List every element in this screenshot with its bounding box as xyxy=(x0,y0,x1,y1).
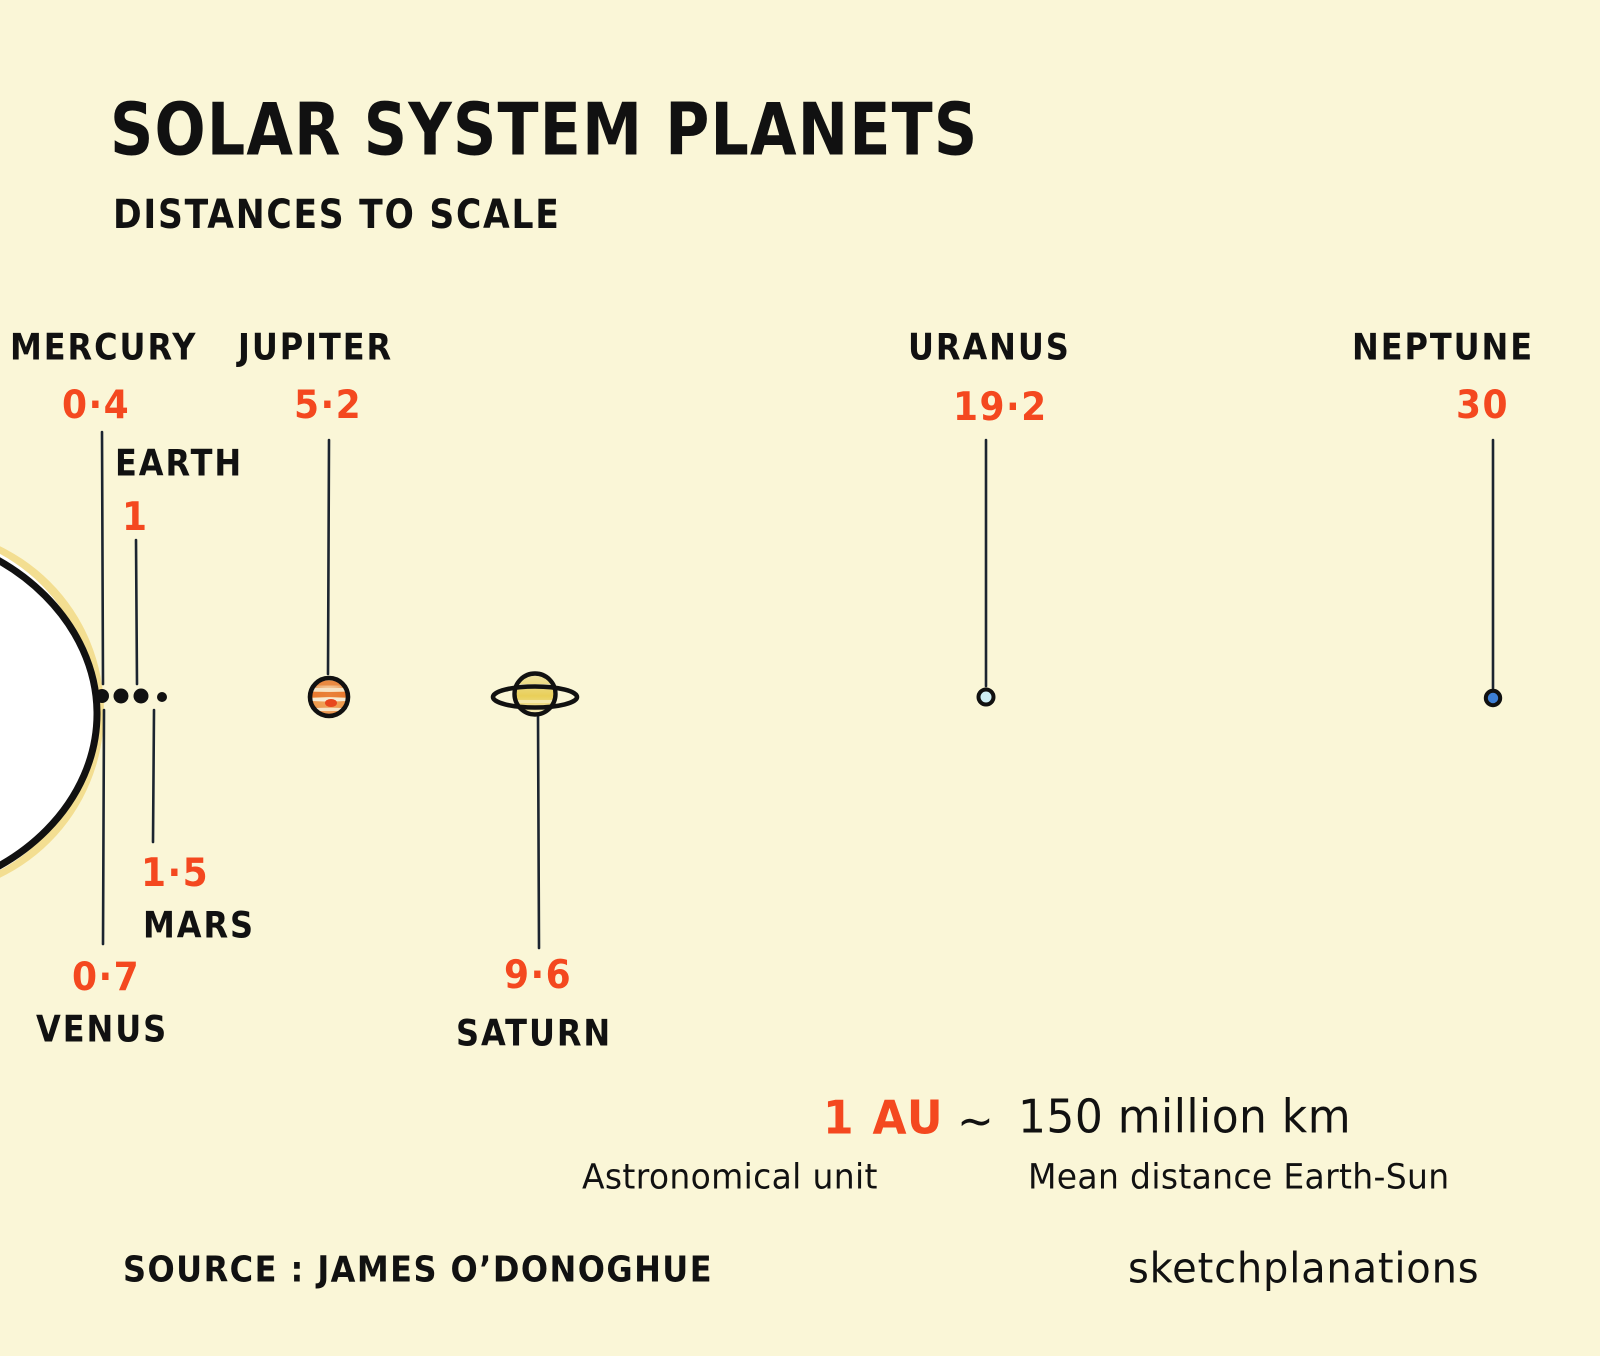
planet-label-earth: EARTH xyxy=(115,445,243,481)
saturn-planet xyxy=(493,674,577,715)
leader-mercury xyxy=(102,432,103,684)
mercury-dot xyxy=(95,689,109,703)
uranus-dot xyxy=(979,690,994,705)
planet-label-neptune: NEPTUNE xyxy=(1352,329,1534,365)
planet-value-earth: 1 xyxy=(122,499,149,538)
page-subtitle: DISTANCES TO SCALE xyxy=(113,196,561,236)
neptune-dot xyxy=(1486,691,1500,705)
leader-venus xyxy=(103,710,104,944)
planet-value-mars: 1·5 xyxy=(141,855,209,894)
earth-dot xyxy=(134,689,149,704)
venus-dot xyxy=(114,689,129,704)
leader-earth xyxy=(136,540,137,684)
planet-value-uranus: 19·2 xyxy=(953,389,1048,428)
planet-label-mars: MARS xyxy=(143,907,255,943)
planet-label-jupiter: JUPITER xyxy=(238,329,393,365)
page-title: SOLAR SYSTEM PLANETS xyxy=(110,94,978,166)
planet-value-saturn: 9·6 xyxy=(504,957,572,996)
planet-value-neptune: 30 xyxy=(1456,387,1509,426)
approx-symbol: ~ xyxy=(957,1099,994,1145)
leader-mars xyxy=(153,710,154,842)
leader-saturn xyxy=(538,716,539,948)
planet-label-uranus: URANUS xyxy=(908,329,1071,365)
mars-dot xyxy=(157,692,167,702)
jupiter-planet xyxy=(309,678,351,716)
illustration-canvas: SOLAR SYSTEM PLANETS DISTANCES TO SCALE … xyxy=(0,0,1600,1356)
planet-label-saturn: SATURN xyxy=(456,1015,612,1051)
au-definition: Mean distance Earth-Sun xyxy=(1028,1159,1450,1194)
planet-value-jupiter: 5·2 xyxy=(294,387,362,426)
planet-label-venus: VENUS xyxy=(36,1011,168,1047)
leader-jupiter xyxy=(328,440,329,674)
inner-planet-dots xyxy=(95,689,167,704)
planet-value-mercury: 0·4 xyxy=(62,387,130,426)
planet-value-venus: 0·7 xyxy=(72,959,140,998)
planet-label-mercury: MERCURY xyxy=(10,329,197,365)
brand-wordmark: sketchplanations xyxy=(1128,1248,1479,1290)
au-label: 1 AU xyxy=(823,1096,944,1142)
au-expansion: Astronomical unit xyxy=(582,1159,878,1194)
sun-graphic xyxy=(0,528,104,896)
source-credit: SOURCE : JAMES O’DONOGHUE xyxy=(123,1251,713,1287)
au-equivalent: 150 million km xyxy=(1018,1095,1351,1141)
